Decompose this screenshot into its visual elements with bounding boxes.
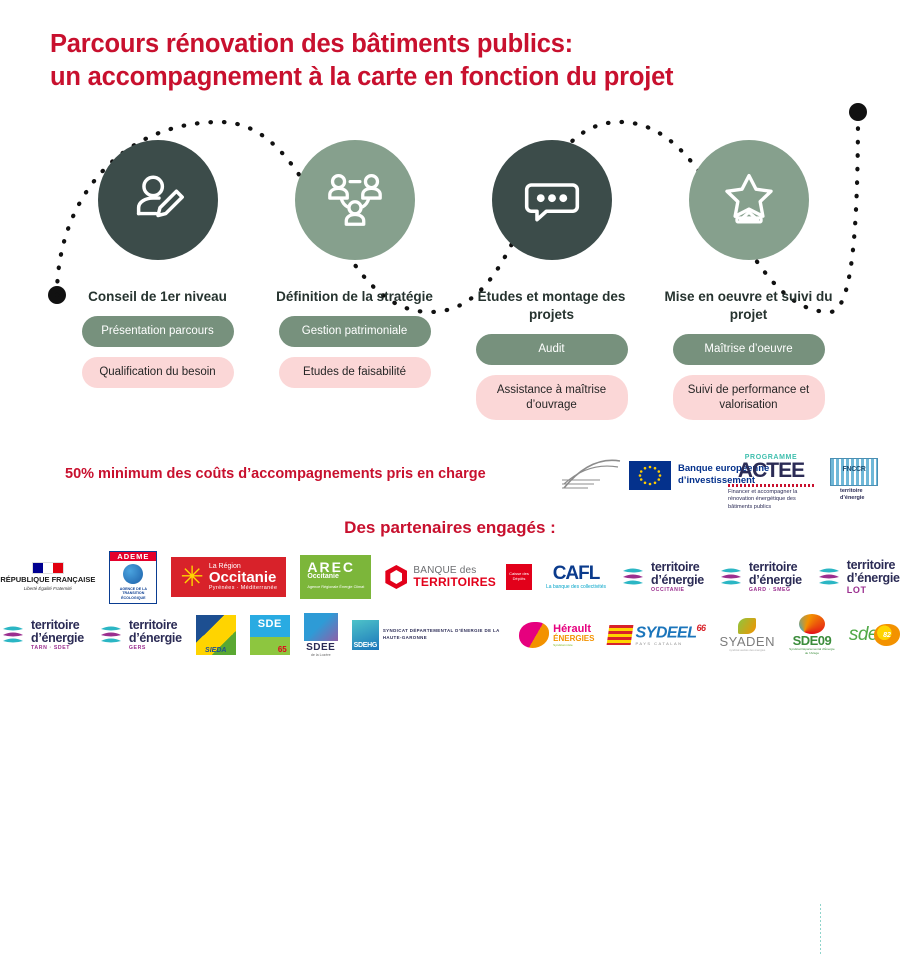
te-gers-line-1: territoire [129, 619, 182, 632]
catalan-flag-icon [607, 625, 634, 645]
logo-ademe: ADEME AGENCE DE LA TRANSITION ÉCOLOGIQUE [109, 551, 157, 603]
eu-flag-icon [629, 461, 671, 490]
sde65-name: SDE [250, 618, 290, 630]
step-mise-en-oeuvre-suivi[interactable]: Mise en oeuvre et suivi du projet Maîtri… [651, 140, 846, 420]
te-gard-line-1: territoire [749, 561, 802, 574]
sydeel-name: SYDEEL [635, 624, 696, 641]
fnccr-line-2: d’énergie [840, 495, 882, 502]
step-2-pill-2[interactable]: Etudes de faisabilité [279, 357, 431, 388]
partner-row-2: territoire d’énergie TARN · SDET territo… [0, 606, 900, 664]
cafl-sub: La banque des collectivités [546, 584, 606, 590]
logo-fnccr-territoire-energie: FNCCR territoire d’énergie [826, 458, 882, 502]
occitan-cross-icon: ✳ [180, 563, 203, 591]
te-gard-line-2: d’énergie [749, 574, 802, 587]
energy-swirl-icon [98, 623, 124, 647]
step-3-pill-2[interactable]: Assistance à maîtrise d’ouvrage [476, 375, 628, 421]
te-occ-region: OCCITANIE [651, 587, 704, 593]
logo-territoire-energie-tarn: territoire d’énergie TARN · SDET [0, 609, 84, 661]
arec-region: Occitanie [307, 573, 364, 580]
sydeel-sub: PAYS CATALAN [635, 641, 705, 646]
fnccr-line-1: territoire [840, 488, 882, 495]
page-title: Parcours rénovation des bâtiments public… [50, 28, 860, 93]
funding-statement: 50% minimum des coûts d’accompagnements … [65, 466, 486, 482]
eib-arcs-icon [560, 458, 622, 492]
step-etudes-montage-projets[interactable]: Etudes et montage des projets Audit Assi… [454, 140, 649, 420]
logo-republique-francaise: RÉPUBLIQUE FRANÇAISE Liberté Égalité Fra… [0, 551, 95, 603]
logo-territoire-energie-gers: territoire d’énergie GERS [98, 609, 182, 661]
energy-swirl-icon [0, 623, 26, 647]
logo-cafl: CAFL La banque des collectivités [546, 551, 606, 603]
sde09-name: SDE09 [789, 634, 835, 648]
french-flag-icon [32, 562, 64, 574]
step-4-pill-1[interactable]: Maîtrise d’oeuvre [673, 334, 825, 365]
sde09-sub: Syndicat Départemental d’Énergie de l’Ar… [789, 648, 835, 656]
arec-name: AREC [307, 560, 364, 574]
sde82-badge-icon: 82 [874, 624, 900, 646]
leaf-icon [738, 618, 756, 634]
occitanie-sub: Pyrénées · Méditerranée [209, 585, 278, 591]
step-1-pill-2[interactable]: Qualification du besoin [82, 357, 234, 388]
sdehg-mark-icon: SDEHG [352, 620, 379, 650]
te-gers-region: GERS [129, 645, 182, 651]
sdee-mark-icon [304, 613, 338, 641]
step-3-circle [492, 140, 612, 260]
te-occ-line-2: d’énergie [651, 574, 704, 587]
step-3-pill-1[interactable]: Audit [476, 334, 628, 365]
ademe-sub: AGENCE DE LA TRANSITION ÉCOLOGIQUE [110, 587, 156, 603]
user-edit-icon [127, 169, 189, 231]
logo-sdehg: SDEHG SYNDICAT DÉPARTEMENTAL D’ÉNERGIE D… [352, 609, 505, 661]
partner-logos: RÉPUBLIQUE FRANÇAISE Liberté Égalité Fra… [0, 548, 900, 664]
logo-sieda: SIEDA [196, 609, 236, 661]
step-3-title: Etudes et montage des projets [462, 288, 642, 324]
sdehg-name: SDEHG [352, 642, 379, 649]
funding-divider [820, 904, 821, 956]
people-network-icon [324, 169, 386, 231]
te-gard-region: GARD · SMEG [749, 587, 802, 593]
fnccr-mark-text: FNCCR [831, 466, 877, 473]
logo-banque-des-territoires: BANQUE des TERRITOIRES Caisse des Dépôts [385, 551, 532, 603]
sde82-number: 82 [874, 624, 900, 646]
te-lot-region: LOT [847, 585, 900, 595]
partner-row-1: RÉPUBLIQUE FRANÇAISE Liberté Égalité Fra… [0, 548, 900, 606]
bdt-line-2: TERRITOIRES [413, 576, 496, 589]
sde65-number: 65 [278, 645, 287, 654]
title-line-2: un accompagnement à la carte en fonction… [50, 61, 860, 94]
sdee-sub: de la Lozère [304, 653, 338, 657]
sde09-fan-icon [799, 614, 825, 634]
herault-energies-word: ÉNERGIES [553, 635, 594, 643]
step-1-circle [98, 140, 218, 260]
te-tarn-region: TARN · SDET [31, 645, 84, 651]
journey-steps: Conseil de 1er niveau Présentation parco… [0, 140, 900, 420]
chat-bubble-icon [522, 170, 582, 230]
logo-region-occitanie: ✳ La Région Occitanie Pyrénées · Méditer… [171, 551, 286, 603]
logo-territoire-energie-occitanie: territoire d’énergie OCCITANIE [620, 551, 704, 603]
sieda-name: SIEDA [196, 647, 236, 654]
te-gers-line-2: d’énergie [129, 632, 182, 645]
globe-icon [123, 564, 143, 584]
energy-swirl-icon [620, 565, 646, 589]
logo-actee: PROGRAMME ACTEE Financer et accompagner … [728, 454, 814, 512]
logo-sydeel66: SYDEEL66 PAYS CATALAN [608, 609, 705, 661]
title-line-1: Parcours rénovation des bâtiments public… [50, 28, 860, 61]
te-occ-line-1: territoire [651, 561, 704, 574]
logo-sde65: SDE 65 [250, 609, 290, 661]
energy-swirl-icon [816, 565, 842, 589]
path-end-dot [849, 103, 867, 121]
step-conseil-1er-niveau[interactable]: Conseil de 1er niveau Présentation parco… [60, 140, 255, 420]
step-2-pill-1[interactable]: Gestion patrimoniale [279, 316, 431, 347]
partners-heading: Des partenaires engagés : [0, 518, 900, 538]
fnccr-mark-icon: FNCCR [830, 458, 878, 486]
rf-motto: Liberté Égalité Fraternité [0, 586, 95, 592]
hexagon-icon [385, 565, 407, 589]
sdee-name: SDEE [304, 642, 338, 653]
sdehg-sub: SYNDICAT DÉPARTEMENTAL D’ÉNERGIE DE LA H… [383, 628, 505, 641]
herault-name: Hérault [553, 624, 594, 635]
step-4-title: Mise en oeuvre et suivi du projet [659, 288, 839, 324]
logo-sdee: SDEE de la Lozère [304, 609, 338, 661]
logo-syaden: SYADEN syndicat audois des énergies [720, 609, 776, 661]
logo-territoire-energie-gard: territoire d’énergie GARD · SMEG [718, 551, 802, 603]
fnccr-territoire-energie-label: territoire d’énergie [826, 488, 882, 502]
logo-sde82: sde 82 [849, 609, 900, 661]
occitanie-name: Occitanie [209, 570, 278, 585]
logo-territoire-energie-lot: territoire d’énergie LOT [816, 551, 900, 603]
te-tarn-line-2: d’énergie [31, 632, 84, 645]
herault-sub: Syndicat mixte [553, 643, 594, 647]
syaden-name: SYADEN [720, 635, 776, 648]
step-definition-strategie[interactable]: Définition de la stratégie Gestion patri… [257, 140, 452, 420]
energy-swirl-icon [718, 565, 744, 589]
logo-herault-energies: Hérault ÉNERGIES Syndicat mixte [519, 609, 594, 661]
step-4-pill-2[interactable]: Suivi de performance et valorisation [673, 375, 825, 421]
rf-name: RÉPUBLIQUE FRANÇAISE [0, 576, 95, 584]
ademe-name: ADEME [110, 552, 156, 561]
bdt-cdc-mark: Caisse des Dépôts [506, 564, 532, 590]
te-lot-line-2: d’énergie [847, 572, 900, 585]
step-4-circle [689, 140, 809, 260]
arec-sub: Agence Régionale Énergie Climat [307, 585, 364, 590]
te-lot-line-1: territoire [847, 559, 900, 572]
logo-arec-occitanie: AREC Occitanie Agence Régionale Énergie … [300, 551, 371, 603]
actee-tagline: Financer et accompagner la rénovation én… [728, 489, 814, 512]
actee-divider [728, 484, 814, 487]
cafl-name: CAFL [546, 564, 606, 583]
funding-row: 50% minimum des coûts d’accompagnements … [0, 452, 900, 512]
actee-name: ACTEE [728, 461, 814, 481]
logo-sde09: SDE09 Syndicat Départemental d’Énergie d… [789, 609, 835, 661]
step-1-title: Conseil de 1er niveau [68, 288, 248, 306]
step-2-title: Définition de la stratégie [265, 288, 445, 306]
step-1-pill-1[interactable]: Présentation parcours [82, 316, 234, 347]
sydeel-number: 66 [696, 623, 705, 633]
herault-map-icon [519, 622, 549, 648]
step-2-circle [295, 140, 415, 260]
te-tarn-line-1: territoire [31, 619, 84, 632]
trophy-star-icon [719, 170, 779, 230]
